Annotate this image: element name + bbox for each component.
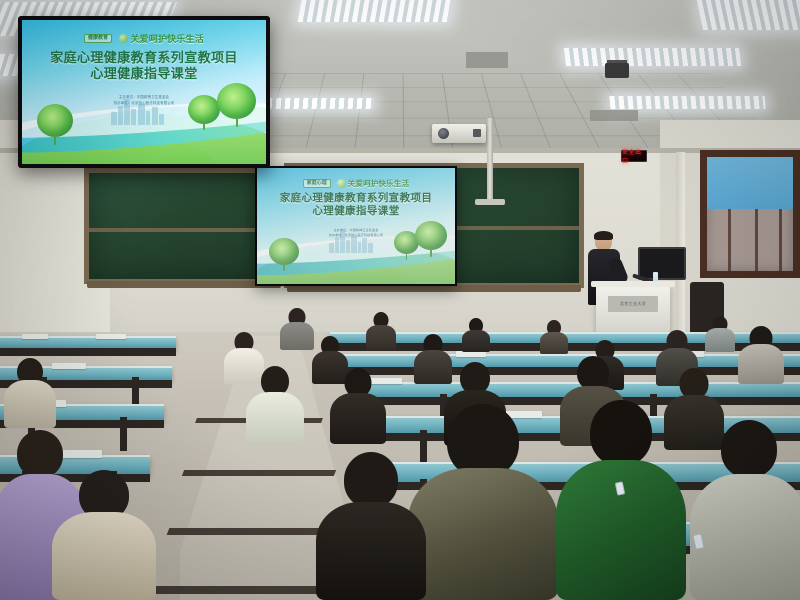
student — [690, 420, 800, 600]
logo-badge-line2: 健康教育 — [88, 36, 108, 41]
desk-paper — [96, 334, 126, 339]
credit-line-2: 协办单位：北京怡心医疗科技有限公司 — [22, 101, 266, 107]
student — [280, 308, 314, 350]
student-head — [590, 400, 652, 466]
student-torso — [462, 330, 490, 352]
slide-credits: 主办单位：中国精神卫生基金会 协办单位：北京怡心医疗科技有限公司 — [257, 228, 455, 238]
desk-paper — [52, 363, 86, 369]
slide-title-line1: 家庭心理健康教育系列宣教项目 — [22, 50, 266, 66]
ceiling-vent — [590, 110, 638, 121]
student-torso — [4, 380, 56, 428]
ceiling-light-panel — [298, 0, 453, 22]
display-slide: 健康教育 关爱呵护快乐生活 家庭心理健康教育系列宣教项目 心理健康指导课堂 主办… — [22, 20, 266, 164]
student-torso — [738, 344, 784, 384]
wall-mounted-display: 健康教育 关爱呵护快乐生活 家庭心理健康教育系列宣教项目 心理健康指导课堂 主办… — [18, 16, 270, 168]
heart-leaf-icon — [119, 34, 128, 43]
slide-title-line2: 心理健康指导课堂 — [257, 205, 455, 218]
lectern: 北京工业大学 — [596, 285, 670, 335]
exit-sign-text: 安全出口 — [622, 147, 646, 165]
organization-logo: 健康教育 — [84, 34, 112, 43]
slide-title-line1: 家庭心理健康教育系列宣教项目 — [257, 192, 455, 205]
projector-knob — [473, 129, 481, 137]
chalk-tray — [287, 285, 581, 292]
student-torso — [690, 474, 800, 600]
student — [366, 312, 396, 350]
exit-sign: 安全出口 — [621, 150, 647, 162]
student — [540, 320, 568, 354]
student-head — [577, 356, 609, 390]
ceiling-light-panel — [697, 0, 800, 30]
window-blind — [707, 157, 793, 209]
lecture-hall-photo: 家庭心理 关爱呵护快乐生活 家庭心理健康教育系列宣教项目 心理健康指导课堂 主办… — [0, 0, 800, 600]
student-head — [344, 452, 398, 508]
student — [738, 326, 784, 384]
student — [408, 404, 558, 600]
projection-screen: 家庭心理 关爱呵护快乐生活 家庭心理健康教育系列宣教项目 心理健康指导课堂 主办… — [255, 166, 457, 286]
student-torso — [246, 392, 304, 446]
projector-mount-pole — [487, 118, 493, 202]
student-torso — [408, 468, 558, 600]
security-camera-icon — [605, 63, 629, 78]
student-torso — [52, 512, 156, 600]
student — [316, 452, 426, 600]
presentation-slide: 家庭心理 关爱呵护快乐生活 家庭心理健康教育系列宣教项目 心理健康指导课堂 主办… — [257, 168, 455, 284]
lectern-top — [591, 281, 675, 287]
slide-tree — [269, 238, 299, 265]
chalk-tray — [87, 281, 281, 288]
student — [556, 400, 686, 600]
student-head — [721, 420, 777, 478]
student-torso — [540, 332, 568, 354]
student-torso — [705, 328, 735, 352]
ceiling-light-panel — [258, 98, 374, 109]
slide-tree — [37, 104, 74, 138]
student-torso — [330, 393, 386, 444]
slide-slogan: 关爱呵护快乐生活 — [130, 32, 204, 45]
student-head — [447, 404, 519, 478]
student — [462, 318, 490, 352]
student — [4, 358, 56, 428]
window-mullion — [755, 209, 758, 271]
lectern-label: 北京工业大学 — [620, 301, 646, 307]
slide-logo-row: 健康教育 关爱呵护快乐生活 — [22, 30, 266, 47]
student — [52, 470, 156, 600]
slide-title: 家庭心理健康教育系列宣教项目 心理健康指导课堂 — [22, 50, 266, 82]
student — [705, 316, 735, 352]
window-mullion — [779, 209, 782, 271]
slide-logo-row: 家庭心理 关爱呵护快乐生活 — [257, 176, 455, 190]
credit-line-2: 协办单位：北京怡心医疗科技有限公司 — [257, 233, 455, 238]
student-torso — [366, 325, 396, 350]
logo-badge-line1: 家庭心理 — [307, 181, 327, 186]
organization-logo: 家庭心理 — [303, 179, 331, 188]
student — [330, 368, 386, 444]
ceiling-light-panel — [609, 96, 765, 109]
lectern-emblem: 北京工业大学 — [608, 296, 658, 312]
slide-credits: 主办单位：中国精神卫生基金会 协办单位：北京怡心医疗科技有限公司 — [22, 95, 266, 107]
window-mullion — [728, 209, 731, 271]
ceiling-vent — [466, 52, 508, 68]
chalkboard-left — [84, 168, 284, 284]
ceiling-projector — [432, 124, 486, 143]
slide-slogan: 关爱呵护快乐生活 — [348, 178, 410, 189]
student-torso — [316, 502, 426, 600]
heart-leaf-icon — [337, 179, 346, 188]
desk-row — [0, 336, 176, 349]
slide-title: 家庭心理健康教育系列宣教项目 心理健康指导课堂 — [257, 192, 455, 218]
projector-lens-icon — [438, 128, 449, 139]
window — [700, 150, 800, 278]
student — [246, 366, 304, 446]
projector-mount-base — [475, 199, 505, 205]
aisle-step — [182, 470, 336, 476]
ceiling-light-panel — [564, 48, 741, 66]
presenter-hair — [594, 231, 613, 240]
desk-paper — [22, 334, 48, 339]
podium-display — [638, 247, 686, 280]
slide-title-line2: 心理健康指导课堂 — [22, 66, 266, 82]
student-torso — [280, 322, 314, 350]
